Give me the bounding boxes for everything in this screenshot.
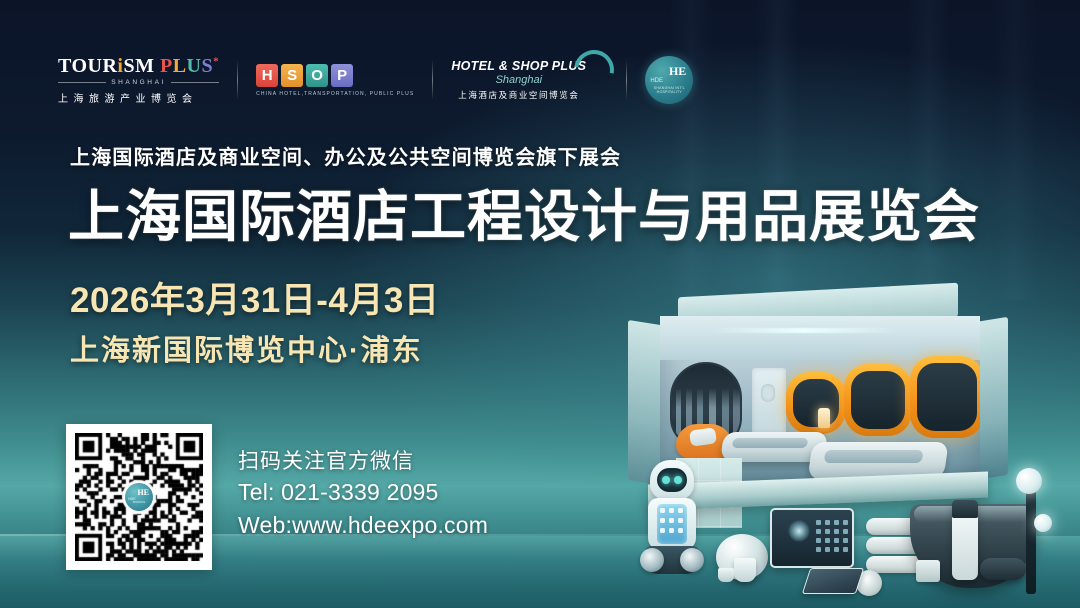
tourism-plus-wordmark: TOURiSM PLUS* — [58, 56, 219, 76]
rule-right — [171, 82, 219, 83]
logo-hde[interactable]: HE HDE SHANGHAI INT'L HOSPITALITY — [645, 56, 693, 104]
service-robot — [644, 460, 700, 576]
pod-opening-3 — [917, 363, 977, 431]
qr-center-logo: HE HDE SHANGHAI — [124, 482, 154, 512]
event-date: 2026年3月31日-4月3日 — [70, 272, 439, 323]
hsop-letter-o: O — [306, 64, 328, 87]
wechat-prompt: 扫码关注官方微信 — [238, 448, 488, 476]
chair-pillow — [689, 427, 717, 446]
tablet-device — [802, 568, 864, 594]
floor-lamp-globe-top — [1016, 468, 1042, 494]
amenity-bottle — [952, 500, 978, 580]
tp-plus-l: L — [173, 55, 187, 77]
tourism-plus-shanghai: SHANGHAI — [111, 79, 166, 86]
amenity-jar — [916, 560, 940, 582]
robot-eye-left — [662, 476, 670, 484]
tp-plus-p: P — [160, 55, 173, 77]
panel-dial-icon — [788, 520, 810, 542]
hsop-letter-row: H S O P — [256, 64, 414, 87]
logo-divider-2 — [432, 60, 433, 100]
qr-code[interactable]: HE HDE SHANGHAI — [66, 424, 212, 570]
hotel-shop-plus-city: Shanghai — [451, 74, 586, 86]
robot-face-screen — [657, 468, 687, 492]
floor-lamp-pole — [1026, 478, 1036, 594]
sleep-pod-2 — [844, 364, 912, 436]
robot-wheel-left — [640, 548, 664, 572]
amenity-cup — [734, 558, 756, 582]
qr-logo-tiny: SHANGHAI — [133, 502, 146, 505]
page-title: 上海国际酒店工程设计与用品展览会 — [68, 188, 980, 247]
telephone[interactable]: Tel: 021-3339 2095 — [238, 476, 488, 509]
rule-left — [58, 82, 106, 83]
amenity-cup-small — [718, 568, 734, 582]
door-keypad-icon — [761, 384, 775, 402]
tourism-plus-chinese: 上海旅游产业博览会 — [58, 90, 219, 105]
tp-sm: SM — [123, 55, 154, 77]
qr-logo-initials: HE — [137, 489, 149, 497]
robot-body — [648, 498, 696, 550]
hde-subtitle: SHANGHAI INT'L HOSPITALITY — [645, 86, 693, 95]
robot-touchscreen — [657, 504, 687, 544]
hsop-letter-p: P — [331, 64, 353, 87]
logo-divider-3 — [626, 60, 627, 100]
hotel-scene-illustration — [620, 282, 1080, 608]
hde-abbrev: HDE — [650, 78, 663, 85]
hotel-shop-plus-chinese: 上海酒店及商业空间博览会 — [451, 89, 586, 101]
sleep-pod-1 — [786, 372, 846, 434]
hotel-shop-plus-title: HOTEL & SHOP PLUS — [451, 59, 586, 73]
robot-eye-right — [674, 476, 682, 484]
pod-opening-1 — [793, 379, 839, 427]
logo-bar: TOURiSM PLUS* SHANGHAI 上海旅游产业博览会 H S O P… — [58, 52, 693, 108]
bed-sheet-2 — [823, 450, 923, 463]
logo-divider-1 — [237, 60, 238, 100]
dark-rolled-item — [980, 558, 1026, 580]
tp-star: * — [213, 55, 219, 67]
panel-app-grid — [816, 520, 848, 560]
contact-block: 扫码关注官方微信 Tel: 021-3339 2095 Web:www.hdee… — [238, 448, 488, 542]
qr-pattern: HE HDE SHANGHAI — [75, 433, 203, 561]
tourism-plus-shanghai-row: SHANGHAI — [58, 79, 219, 86]
website[interactable]: Web:www.hdeexpo.com — [238, 509, 488, 542]
ceiling-light-strip — [705, 328, 903, 333]
bottle-cap — [952, 500, 978, 518]
tp-plus-u: U — [187, 55, 202, 77]
bed-sheet-1 — [732, 438, 808, 448]
tp-tour: TOUR — [58, 55, 117, 77]
promo-banner: TOURiSM PLUS* SHANGHAI 上海旅游产业博览会 H S O P… — [0, 0, 1080, 608]
hsop-letter-s: S — [281, 64, 303, 87]
robot-wheel-right — [680, 548, 704, 572]
sleep-pod-3 — [910, 356, 980, 438]
kicker-text: 上海国际酒店及商业空间、办公及公共空间博览会旗下展会 — [70, 141, 621, 170]
smart-control-panel — [770, 508, 854, 568]
hsop-letter-h: H — [256, 64, 278, 87]
logo-tourism-plus[interactable]: TOURiSM PLUS* SHANGHAI 上海旅游产业博览会 — [58, 56, 219, 105]
logo-hotel-shop-plus[interactable]: HOTEL & SHOP PLUS Shanghai 上海酒店及商业空间博览会 — [451, 59, 608, 101]
floor-lamp-globe-bottom — [1034, 514, 1052, 532]
event-venue: 上海新国际博览中心·浦东 — [70, 327, 423, 369]
hsop-tagline: CHINA HOTEL,TRANSPORTATION, PUBLIC PLUS — [256, 91, 414, 97]
hde-circle-badge: HE HDE SHANGHAI INT'L HOSPITALITY — [645, 56, 693, 104]
hde-initials: HE — [669, 65, 686, 77]
pod-opening-2 — [851, 371, 905, 429]
bedside-lamp — [818, 408, 830, 428]
logo-hsop[interactable]: H S O P CHINA HOTEL,TRANSPORTATION, PUBL… — [256, 64, 414, 97]
tp-plus-s: S — [202, 55, 214, 77]
robot-head — [650, 460, 694, 500]
